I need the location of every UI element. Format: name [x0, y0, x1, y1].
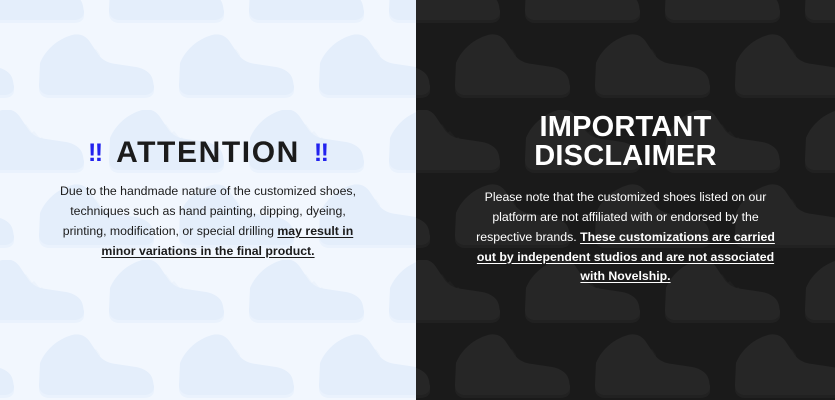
disclaimer-panel: IMPORTANT DISCLAIMER Please note that th… [416, 0, 835, 400]
attention-heading-text: ATTENTION [116, 138, 300, 168]
disclaimer-banner: ‼ ATTENTION ‼ Due to the handmade nature… [0, 0, 835, 400]
attention-panel: ‼ ATTENTION ‼ Due to the handmade nature… [0, 0, 416, 400]
disclaimer-heading-line-1: IMPORTANT [534, 113, 716, 143]
double-exclamation-icon-right: ‼ [314, 141, 328, 166]
disclaimer-heading: IMPORTANT DISCLAIMER [534, 113, 716, 172]
disclaimer-body-text: Please note that the customized shoes li… [466, 188, 786, 288]
attention-body-text: Due to the handmade nature of the custom… [58, 182, 358, 262]
disclaimer-heading-line-2: DISCLAIMER [534, 142, 716, 172]
attention-heading: ‼ ATTENTION ‼ [88, 138, 328, 168]
double-exclamation-icon-left: ‼ [88, 141, 102, 166]
